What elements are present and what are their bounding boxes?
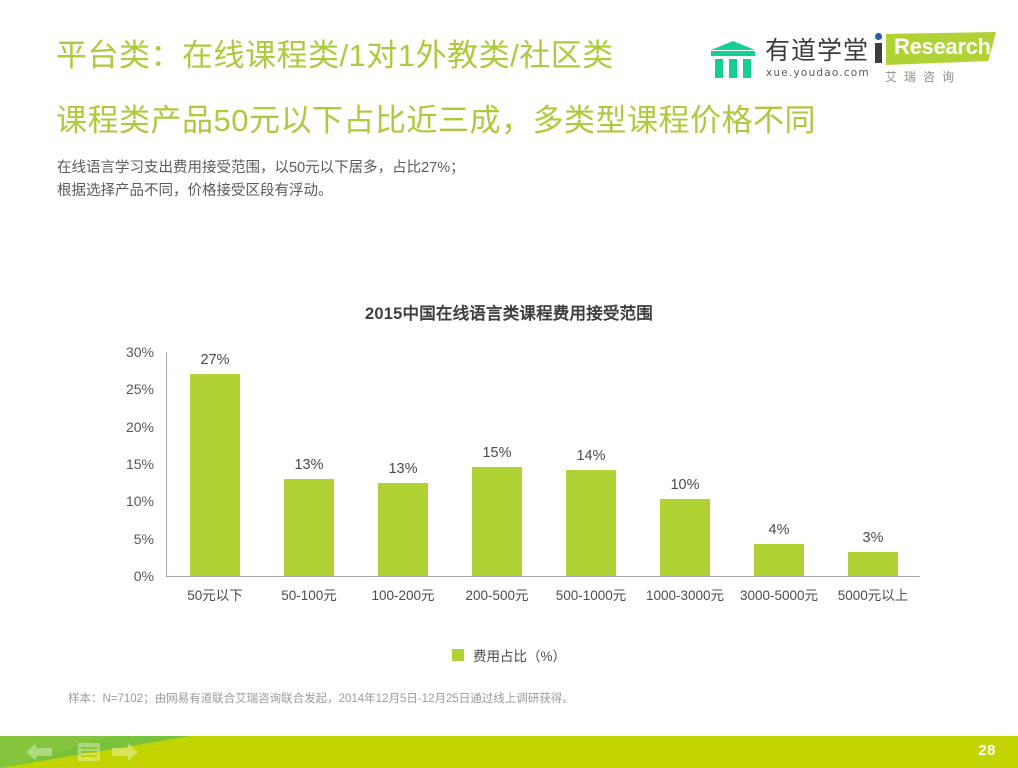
page-subtitle: 在线语言学习支出费用接受范围，以50元以下居多，占比27%； 根据选择产品不同，… <box>57 157 465 203</box>
temple-icon <box>709 40 757 80</box>
y-axis-tick-label: 5% <box>104 531 154 547</box>
bar[interactable] <box>378 483 428 576</box>
bar-group: 13%100-200元 <box>356 352 450 576</box>
bar-group: 27%50元以下 <box>168 352 262 576</box>
bar-series: 27%50元以下13%50-100元13%100-200元15%200-500元… <box>168 352 920 576</box>
bar-value-label: 10% <box>638 477 732 493</box>
bar[interactable] <box>848 552 898 576</box>
bar-group: 10%1000-3000元 <box>638 352 732 576</box>
chart-title: 2015中国在线语言类课程费用接受范围 <box>0 300 1018 324</box>
page-number: 28 <box>978 742 996 759</box>
previous-arrow-icon[interactable] <box>26 743 52 766</box>
bar-group: 4%3000-5000元 <box>732 352 826 576</box>
bar-value-label: 13% <box>262 457 356 473</box>
chart-footnote: 样本：N=7102；由网易有道联合艾瑞咨询联合发起，2014年12月5日-12月… <box>68 690 574 706</box>
subtitle-line-1: 在线语言学习支出费用接受范围，以50元以下居多，占比27%； <box>57 157 465 180</box>
youdao-logo-url: xue.youdao.com <box>766 67 870 79</box>
bar-value-label: 4% <box>732 522 826 538</box>
next-arrow-icon[interactable] <box>112 743 138 766</box>
y-axis-tick-label: 0% <box>104 568 154 584</box>
iresearch-logo-sub: 艾瑞咨询 <box>885 68 961 85</box>
y-axis-tick-label: 15% <box>104 456 154 472</box>
letter-i-dot-icon <box>875 33 882 40</box>
bar[interactable] <box>284 479 334 576</box>
x-axis-category-label: 1000-3000元 <box>638 584 732 604</box>
bar-value-label: 13% <box>356 461 450 477</box>
legend-swatch-icon <box>452 649 464 661</box>
y-axis-tick-label: 30% <box>104 344 154 360</box>
bar-group: 13%50-100元 <box>262 352 356 576</box>
bar[interactable] <box>660 499 710 576</box>
page-title-line-2: 课程类产品50元以下占比近三成，多类型课程价格不同 <box>56 101 816 141</box>
slide-footer: 28 <box>0 736 1018 768</box>
bar-value-label: 3% <box>826 530 920 546</box>
bar-group: 3%5000元以上 <box>826 352 920 576</box>
letter-i-stem-icon <box>875 43 882 63</box>
bar-value-label: 27% <box>168 352 262 368</box>
x-axis-category-label: 3000-5000元 <box>732 584 826 604</box>
youdao-logo: 有道学堂 xue.youdao.com <box>709 36 849 88</box>
chart-container: 2015中国在线语言类课程费用接受范围 30%25%20%15%10%5%0% … <box>0 290 1018 680</box>
iresearch-logo: Research 艾瑞咨询 <box>874 30 996 88</box>
bar-group: 14%500-1000元 <box>544 352 638 576</box>
bar[interactable] <box>472 467 522 576</box>
chart-legend: 费用占比（%） <box>0 645 1018 665</box>
bar[interactable] <box>566 470 616 576</box>
youdao-logo-name: 有道学堂 <box>765 37 869 66</box>
legend-label: 费用占比（%） <box>473 645 566 665</box>
x-axis-category-label: 500-1000元 <box>544 584 638 604</box>
y-axis-tick-label: 25% <box>104 381 154 397</box>
y-axis-tick-label: 10% <box>104 493 154 509</box>
bar-group: 15%200-500元 <box>450 352 544 576</box>
iresearch-logo-word: Research <box>894 34 991 60</box>
x-axis-category-label: 100-200元 <box>356 584 450 604</box>
page-list-icon[interactable] <box>78 743 100 766</box>
x-axis-category-label: 5000元以上 <box>826 584 920 604</box>
chart-plot-area: 30%25%20%15%10%5%0% 27%50元以下13%50-100元13… <box>168 352 920 576</box>
bar-value-label: 14% <box>544 448 638 464</box>
bar-value-label: 15% <box>450 445 544 461</box>
x-axis-category-label: 50元以下 <box>168 584 262 604</box>
x-axis-category-label: 50-100元 <box>262 584 356 604</box>
x-axis-category-label: 200-500元 <box>450 584 544 604</box>
y-axis-line <box>166 352 167 576</box>
x-axis-line <box>166 576 920 577</box>
page-title-line-1: 平台类：在线课程类/1对1外教类/社区类 <box>56 36 614 76</box>
bar[interactable] <box>754 544 804 576</box>
bar[interactable] <box>190 374 240 576</box>
subtitle-line-2: 根据选择产品不同，价格接受区段有浮动。 <box>57 180 465 203</box>
y-axis-tick-label: 20% <box>104 419 154 435</box>
